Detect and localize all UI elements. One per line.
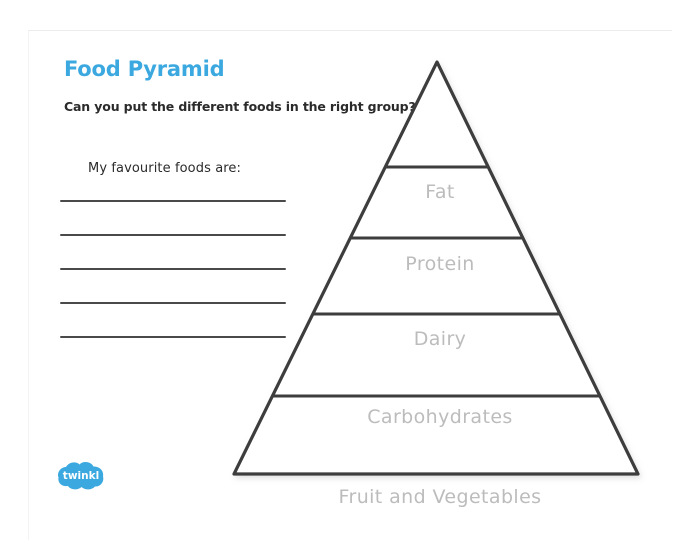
pyramid-tier-label-fat: Fat [210, 181, 670, 203]
twinkl-cloud-icon: twinkl [56, 461, 106, 491]
worksheet-canvas: Food Pyramid Can you put the different f… [0, 0, 700, 540]
pyramid-tier-label-protein: Protein [210, 253, 670, 275]
pyramid-tier-label-dairy: Dairy [210, 328, 670, 350]
food-pyramid-diagram: Fat Protein Dairy Carbohydrates Fruit an… [210, 45, 670, 505]
twinkl-wordmark: twinkl [63, 470, 99, 482]
pyramid-tier-label-carbohydrates: Carbohydrates [210, 406, 670, 428]
pyramid-outline-svg [210, 45, 670, 505]
pyramid-tier-label-fruit-and-vegetables: Fruit and Vegetables [210, 486, 670, 508]
page-title: Food Pyramid [64, 57, 224, 81]
twinkl-logo[interactable]: twinkl [56, 461, 106, 491]
